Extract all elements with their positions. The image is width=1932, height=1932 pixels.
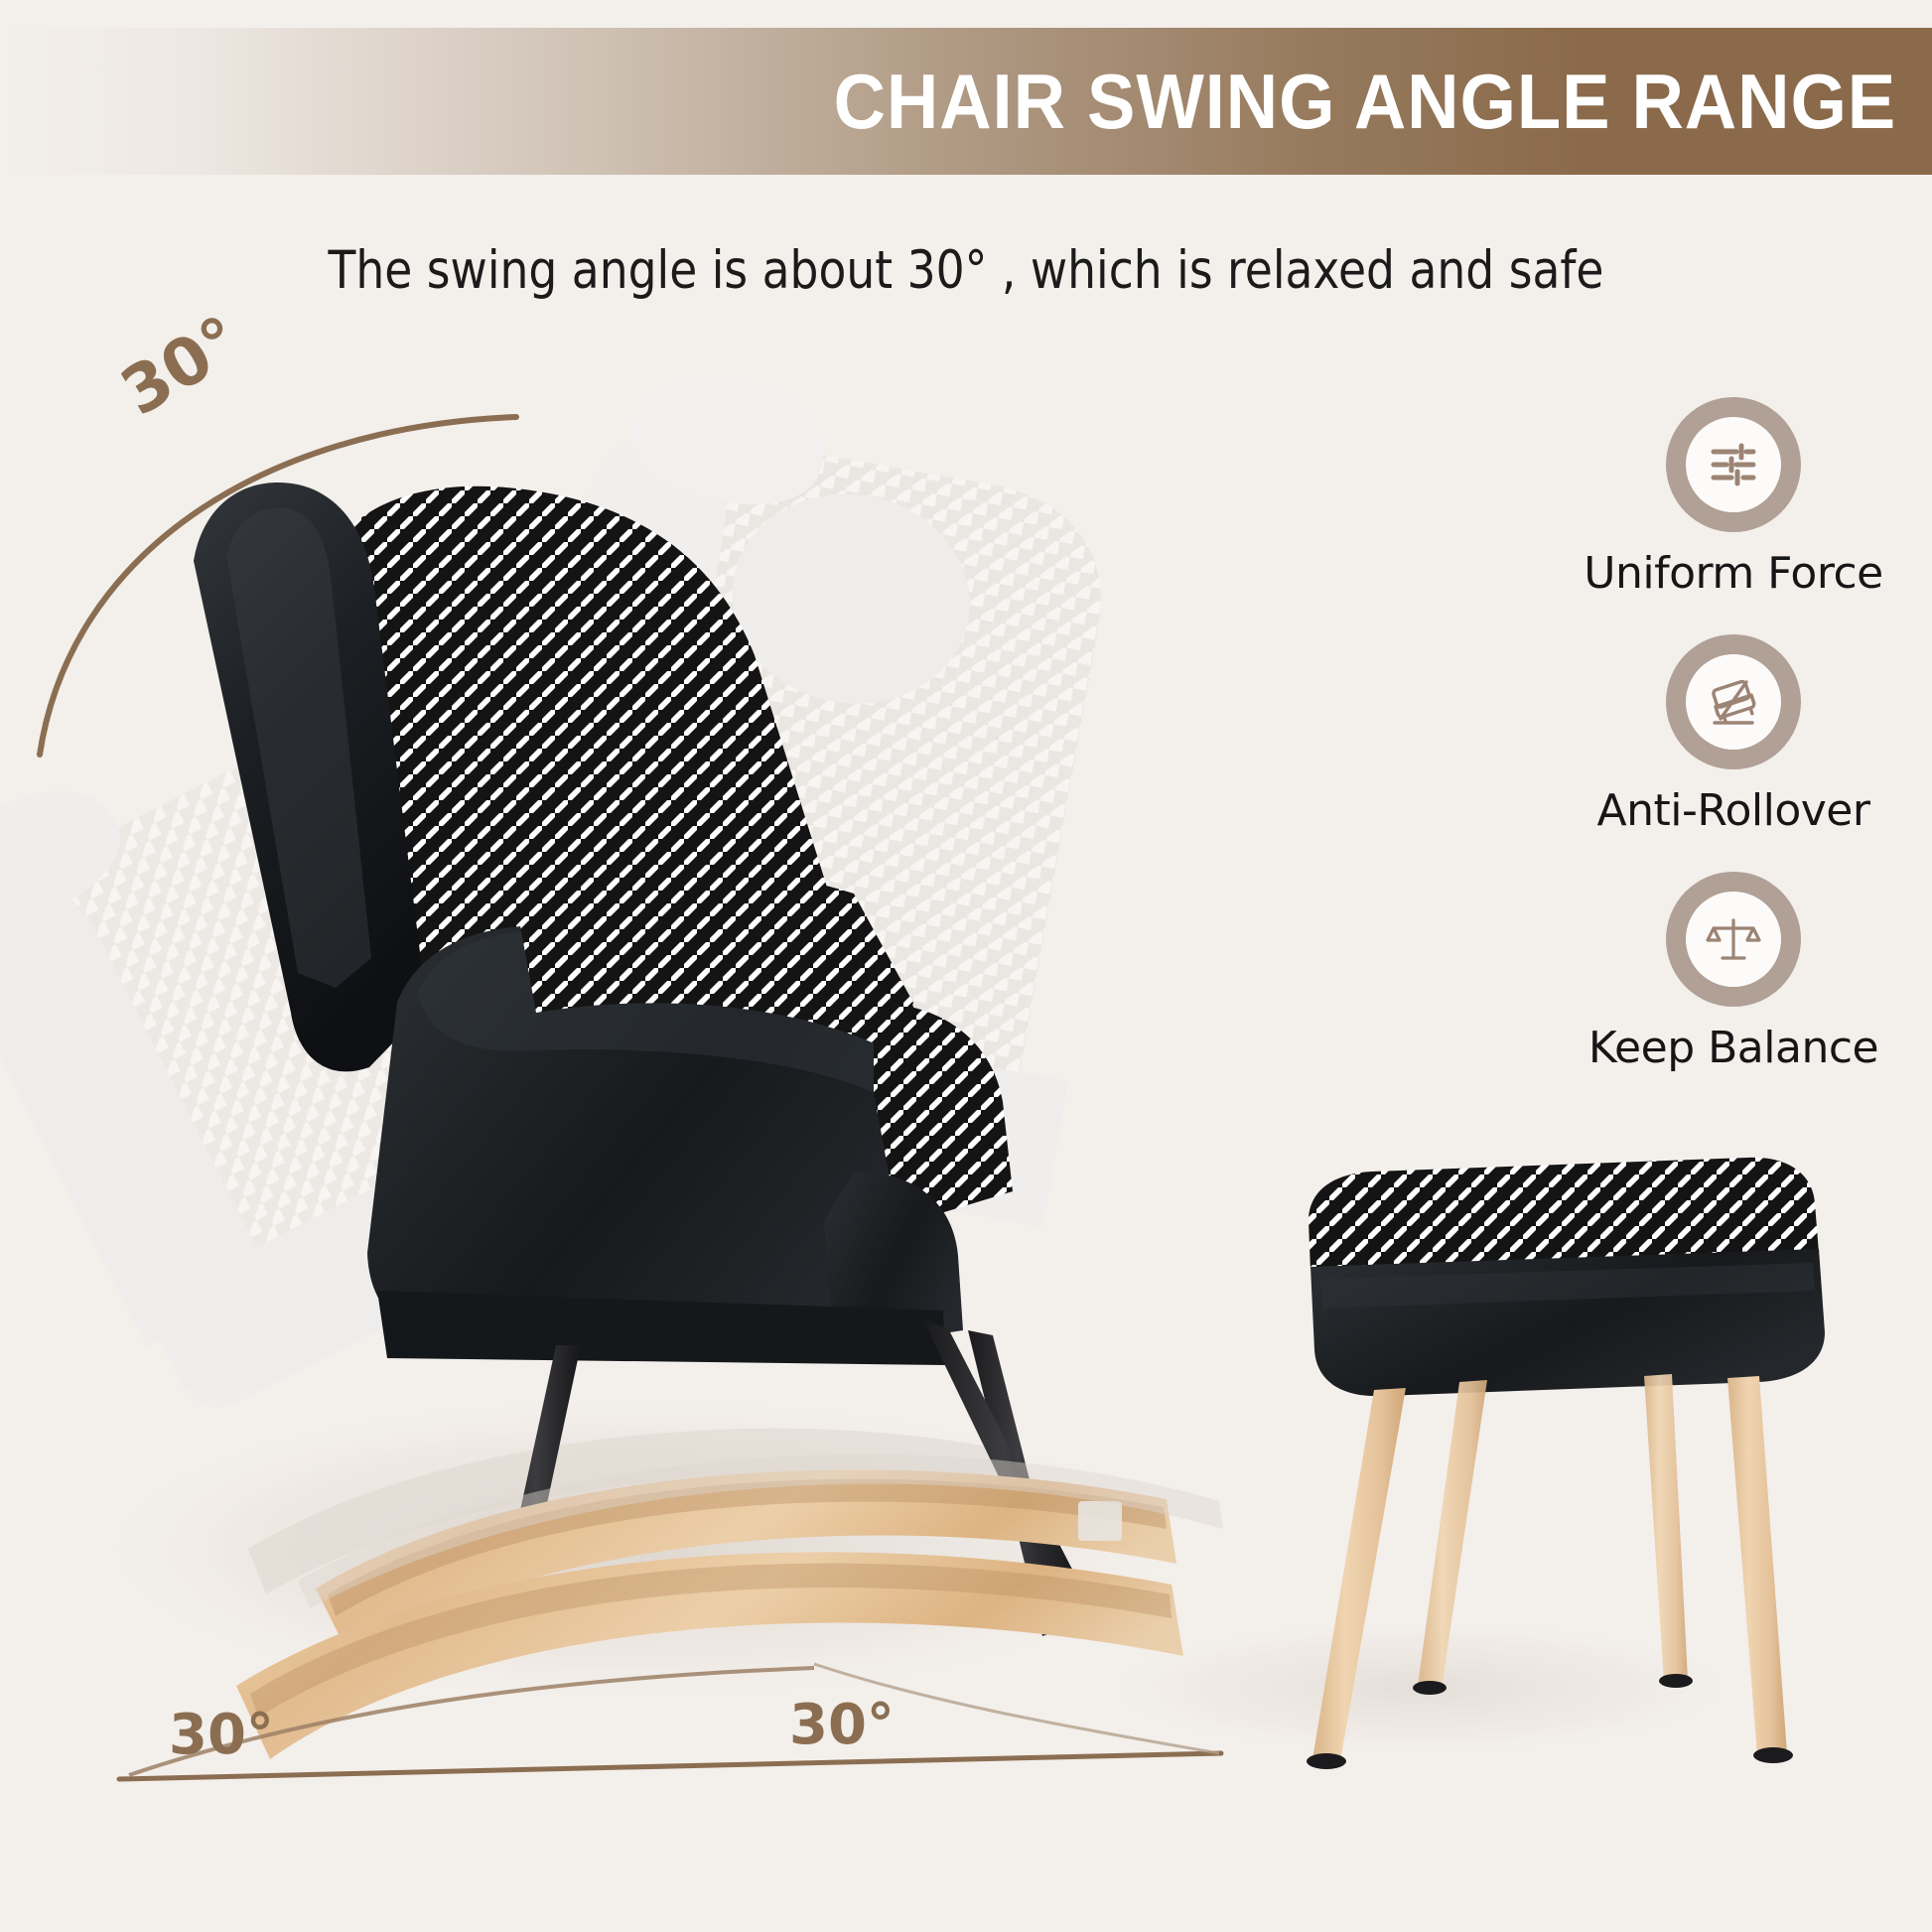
feature-icon-core — [1686, 417, 1781, 512]
feature-list: Uniform Force — [1555, 397, 1912, 1073]
infographic-canvas: CHAIR SWING ANGLE RANGE The swing angle … — [0, 0, 1932, 1932]
bottom-baseline — [119, 1753, 1221, 1779]
angle-label-bottom-left: 30° — [169, 1703, 274, 1767]
ottoman-foot-front-left — [1307, 1753, 1346, 1769]
tilted-chair-icon — [1703, 671, 1764, 733]
ottoman-foot-rear-right — [1659, 1674, 1693, 1688]
angle-label-bottom-right: 30° — [789, 1693, 895, 1757]
ottoman-foot-rear-left — [1413, 1681, 1447, 1695]
ottoman-leg-rear-right — [1644, 1374, 1688, 1682]
feature-label: Anti-Rollover — [1597, 785, 1870, 836]
feature-label: Uniform Force — [1584, 548, 1882, 599]
chair-label-tag — [1078, 1501, 1122, 1541]
feature-label: Keep Balance — [1588, 1023, 1878, 1073]
balance-scale-icon — [1705, 910, 1762, 968]
feature-icon-ring — [1666, 397, 1801, 532]
feature-icon-ring — [1666, 872, 1801, 1007]
ottoman-foot-front-right — [1753, 1747, 1793, 1763]
sliders-icon — [1704, 435, 1763, 494]
feature-icon-core — [1686, 654, 1781, 750]
feature-uniform-force: Uniform Force — [1555, 397, 1912, 599]
feature-keep-balance: Keep Balance — [1555, 872, 1912, 1073]
feature-anti-rollover: Anti-Rollover — [1555, 634, 1912, 836]
feature-icon-core — [1686, 892, 1781, 987]
feature-icon-ring — [1666, 634, 1801, 769]
